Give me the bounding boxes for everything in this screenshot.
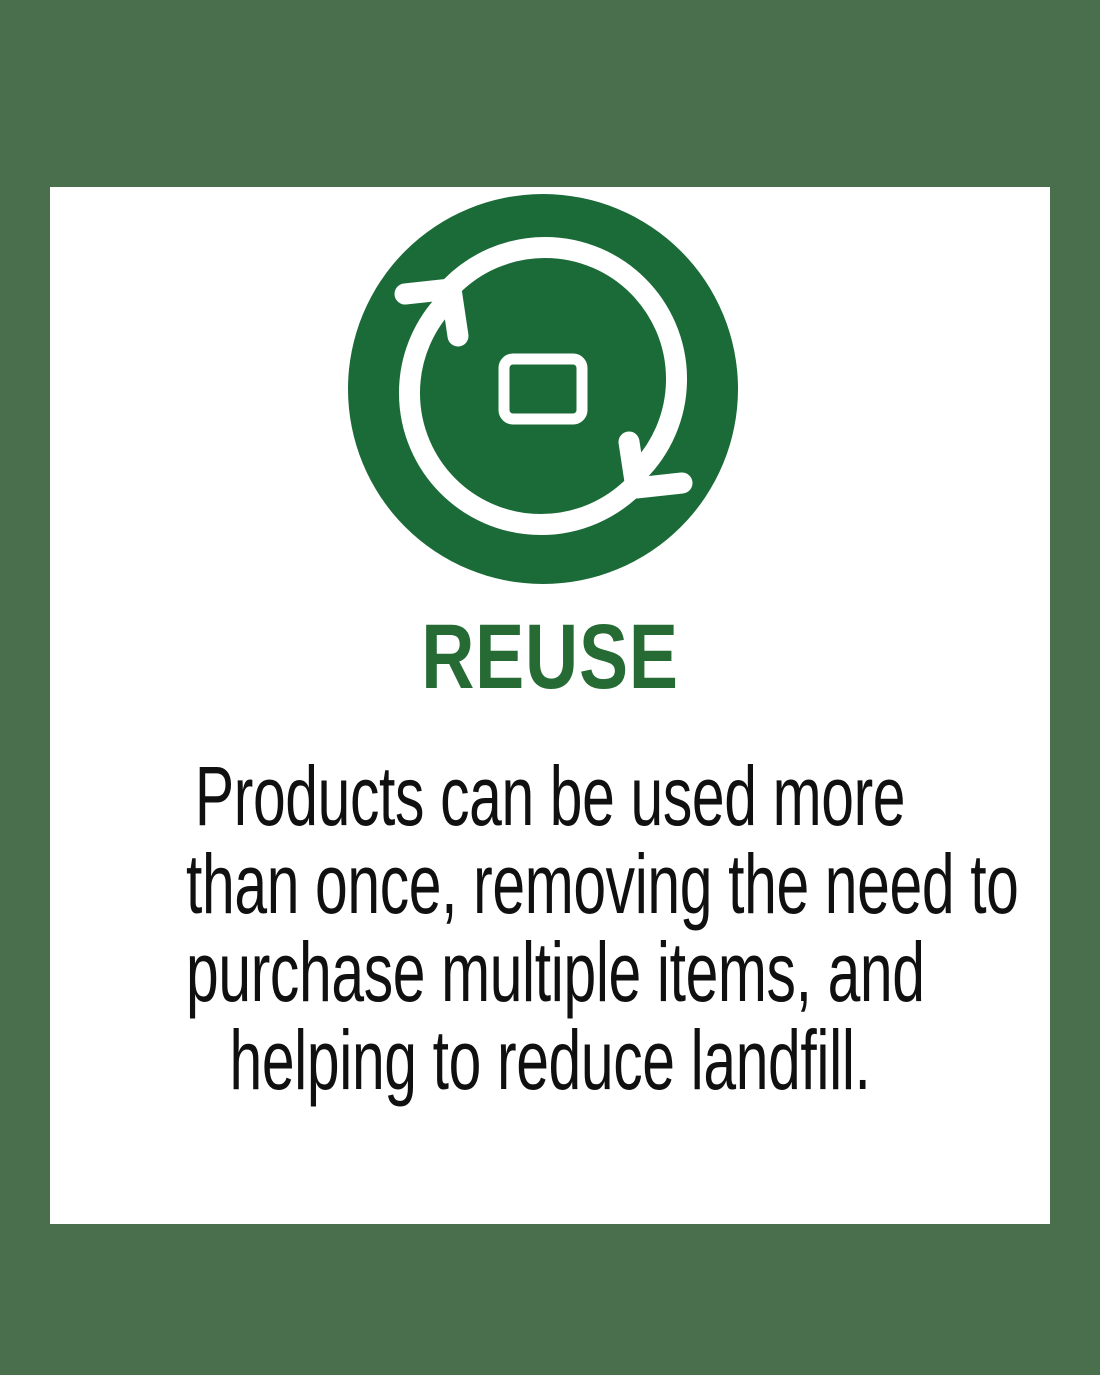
description-line-1: Products can be used more bbox=[186, 752, 914, 840]
description-line-2: than once, removing the need to bbox=[186, 840, 914, 928]
description-line-3: purchase multiple items, and bbox=[186, 928, 914, 1016]
content-card: REUSE Products can be used more than onc… bbox=[50, 187, 1050, 1224]
description-text: Products can be used more than once, rem… bbox=[186, 752, 914, 1104]
reuse-info-card-page: REUSE Products can be used more than onc… bbox=[0, 0, 1100, 1375]
reuse-cycle-icon bbox=[348, 194, 738, 584]
description-line-4: helping to reduce landfill. bbox=[186, 1016, 914, 1104]
page-title: REUSE bbox=[150, 611, 950, 703]
